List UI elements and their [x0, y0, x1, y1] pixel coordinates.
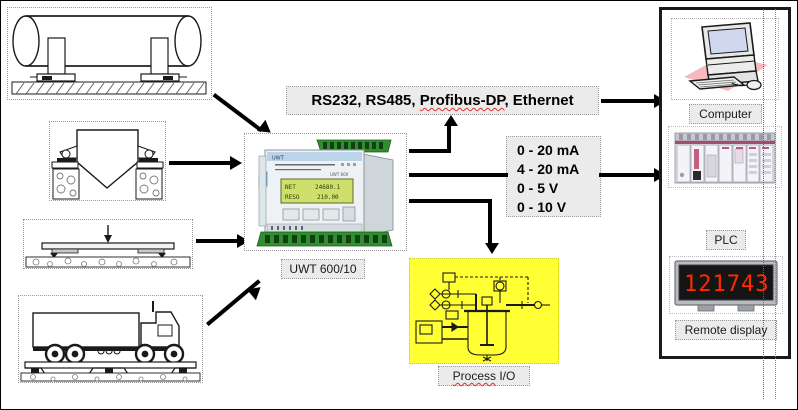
communication-protocols-label: RS232, RS485, Profibus-DP, Ethernet: [311, 92, 573, 109]
line-controller-to-comm: [409, 149, 451, 153]
input-illustration-horizontal-tank: [7, 7, 212, 100]
arrow-comm-riser: [447, 125, 451, 152]
output-devices-panel: Computer: [659, 7, 791, 359]
analog-output-line-1: 0 - 20 mA: [517, 141, 600, 160]
input-illustration-hopper-silo: [49, 121, 166, 201]
input-illustration-platform-scale: [23, 219, 193, 269]
arrow-tank-to-controller: [213, 93, 263, 132]
svg-text:121743: 121743: [684, 272, 769, 297]
line-controller-to-analog: [409, 173, 508, 177]
svg-text:NET: NET: [285, 184, 296, 191]
plc-label: PLC: [706, 230, 746, 250]
input-illustration-truck-weighbridge: [18, 295, 203, 383]
line-controller-to-process-io: [409, 199, 492, 203]
arrow-process-io-drop: [488, 199, 492, 245]
computer-label: Computer: [689, 104, 762, 124]
arrow-head-comm-up: [444, 115, 458, 126]
arrow-platform-to-controller: [196, 239, 238, 243]
controller-label: UWT 600/10: [281, 259, 365, 279]
diagram-canvas: UWT UWT 600 NET 24680.1 RESO 210.00: [0, 0, 798, 410]
plc-image: [668, 126, 782, 188]
arrow-hopper-to-controller: [169, 161, 231, 165]
guide-line-blue: [763, 9, 764, 399]
svg-text:24680.1: 24680.1: [315, 184, 341, 191]
process-io-label-text: Process I/O: [453, 369, 516, 383]
remote-display-image: 121743: [669, 256, 783, 314]
communication-protocols-box: RS232, RS485, Profibus-DP, Ethernet: [286, 86, 599, 115]
svg-text:UWT: UWT: [272, 156, 285, 162]
arrow-comm-to-computer: [601, 99, 656, 103]
controller-uwt-600-10[interactable]: UWT UWT 600 NET 24680.1 RESO 210.00: [244, 133, 407, 251]
process-io-diagram: [409, 258, 559, 364]
arrow-head-hopper: [230, 156, 242, 170]
svg-text:UWT 600: UWT 600: [330, 172, 349, 177]
arrow-analog-to-plc: [599, 173, 656, 177]
remote-display-label: Remote display: [675, 320, 777, 340]
svg-text:210.00: 210.00: [317, 194, 339, 201]
analog-output-line-3: 0 - 5 V: [517, 179, 600, 198]
spellcheck-word: Profibus-DP: [420, 92, 505, 109]
analog-output-line-2: 4 - 20 mA: [517, 160, 600, 179]
svg-text:RESO: RESO: [285, 194, 300, 201]
process-io-label: Process I/O: [438, 366, 530, 386]
analog-output-line-4: 0 - 10 V: [517, 198, 600, 217]
analog-outputs-box: 0 - 20 mA 4 - 20 mA 0 - 5 V 0 - 10 V: [506, 136, 601, 217]
spellcheck-word: Process: [453, 369, 496, 383]
arrow-head-truck: [247, 282, 265, 300]
guide-line-magenta: [775, 9, 776, 399]
arrow-head-process-io-down: [485, 243, 499, 254]
